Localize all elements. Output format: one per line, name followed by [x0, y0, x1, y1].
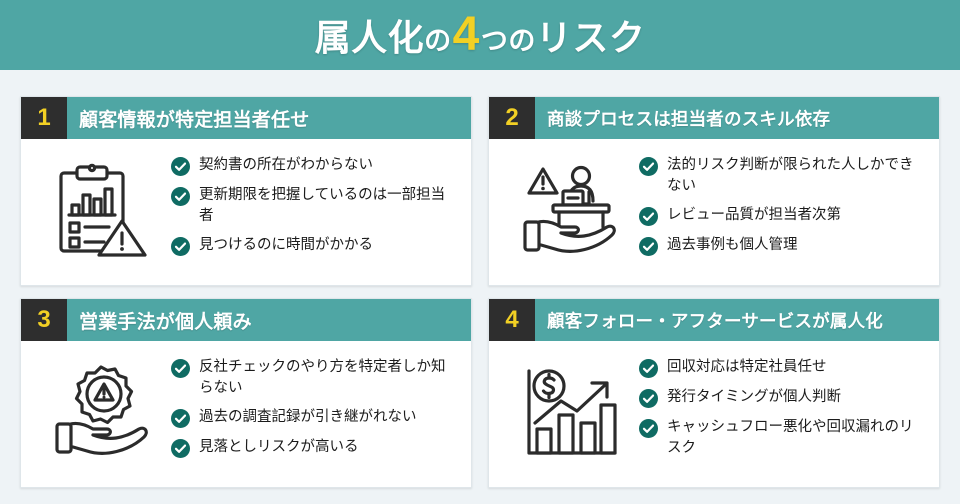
card-4-number-badge: 4 — [489, 299, 535, 341]
check-circle-icon — [171, 439, 190, 458]
title-part-no-2: の — [508, 19, 536, 58]
list-item: 契約書の所在がわからない — [171, 155, 457, 176]
title-part-counter: つ — [481, 19, 509, 58]
list-item-label: キャッシュフロー悪化や回収漏れのリスク — [667, 417, 925, 458]
risk-card-3: 3 営業手法が個人頼み — [20, 298, 472, 488]
check-circle-icon — [639, 207, 658, 226]
check-circle-icon — [171, 409, 190, 428]
risk-card-4: 4 顧客フォロー・アフターサービスが属人化 — [488, 298, 940, 488]
list-item-label: 反社チェックのやり方を特定者しか知らない — [199, 357, 457, 398]
list-item: レビュー品質が担当者次第 — [639, 205, 925, 226]
card-1-bullet-list: 契約書の所在がわからない 更新期限を把握しているのは一部担当者 見つけるのに時間… — [171, 151, 461, 256]
list-item: 反社チェックのやり方を特定者しか知らない — [171, 357, 457, 398]
hand-desk-person-warning-icon — [499, 151, 639, 271]
title-part-suffix: リスク — [536, 9, 646, 61]
card-1-header: 1 顧客情報が特定担当者任せ — [21, 97, 471, 139]
list-item: 過去事例も個人管理 — [639, 235, 925, 256]
list-item-label: 契約書の所在がわからない — [199, 155, 373, 176]
title-part-prefix: 属人化 — [315, 9, 425, 61]
card-3-bullet-list: 反社チェックのやり方を特定者しか知らない 過去の調査記録が引き継がれない 見落と… — [171, 353, 461, 458]
list-item: 法的リスク判断が限られた人しかできない — [639, 155, 925, 196]
check-circle-icon — [171, 237, 190, 256]
check-circle-icon — [639, 237, 658, 256]
card-2-number-badge: 2 — [489, 97, 535, 139]
card-4-title: 顧客フォロー・アフターサービスが属人化 — [535, 299, 939, 341]
check-circle-icon — [171, 359, 190, 378]
card-1-title: 顧客情報が特定担当者任せ — [67, 97, 471, 139]
growth-chart-dollar-icon — [499, 353, 639, 473]
list-item-label: レビュー品質が担当者次第 — [667, 205, 841, 226]
list-item-label: 過去事例も個人管理 — [667, 235, 798, 256]
card-2-body: 法的リスク判断が限られた人しかできない レビュー品質が担当者次第 過去事例も個人… — [489, 139, 939, 285]
list-item-label: 更新期限を把握しているのは一部担当者 — [199, 185, 457, 226]
card-3-title: 営業手法が個人頼み — [67, 299, 471, 341]
card-1-number-badge: 1 — [21, 97, 67, 139]
hand-gear-warning-icon — [31, 353, 171, 473]
card-3-number-badge: 3 — [21, 299, 67, 341]
page-banner: 属人化 の 4 つ の リスク — [0, 0, 960, 70]
list-item-label: 回収対応は特定社員任せ — [667, 357, 827, 378]
card-4-body: 回収対応は特定社員任せ 発行タイミングが個人判断 キャッシュフロー悪化や回収漏れ… — [489, 341, 939, 487]
list-item: 見つけるのに時間がかかる — [171, 235, 457, 256]
card-2-title: 商談プロセスは担当者のスキル依存 — [535, 97, 939, 139]
card-4-bullet-list: 回収対応は特定社員任せ 発行タイミングが個人判断 キャッシュフロー悪化や回収漏れ… — [639, 353, 929, 458]
list-item: 過去の調査記録が引き継がれない — [171, 407, 457, 428]
card-1-body: 契約書の所在がわからない 更新期限を把握しているのは一部担当者 見つけるのに時間… — [21, 139, 471, 285]
check-circle-icon — [639, 389, 658, 408]
risk-card-grid: 1 顧客情報が特定担当者任せ — [20, 96, 940, 488]
check-circle-icon — [639, 157, 658, 176]
list-item: 回収対応は特定社員任せ — [639, 357, 925, 378]
card-3-header: 3 営業手法が個人頼み — [21, 299, 471, 341]
list-item-label: 見落としリスクが高いる — [199, 437, 359, 458]
card-3-body: 反社チェックのやり方を特定者しか知らない 過去の調査記録が引き継がれない 見落と… — [21, 341, 471, 487]
card-2-bullet-list: 法的リスク判断が限られた人しかできない レビュー品質が担当者次第 過去事例も個人… — [639, 151, 929, 256]
check-circle-icon — [639, 419, 658, 438]
check-circle-icon — [171, 187, 190, 206]
clipboard-chart-warning-icon — [31, 151, 171, 271]
title-part-number: 4 — [452, 11, 481, 59]
card-4-header: 4 顧客フォロー・アフターサービスが属人化 — [489, 299, 939, 341]
risk-card-1: 1 顧客情報が特定担当者任せ — [20, 96, 472, 286]
list-item: 更新期限を把握しているのは一部担当者 — [171, 185, 457, 226]
list-item: 発行タイミングが個人判断 — [639, 387, 925, 408]
check-circle-icon — [639, 359, 658, 378]
card-2-header: 2 商談プロセスは担当者のスキル依存 — [489, 97, 939, 139]
list-item: 見落としリスクが高いる — [171, 437, 457, 458]
title-part-no-1: の — [424, 19, 452, 58]
list-item-label: 過去の調査記録が引き継がれない — [199, 407, 417, 428]
list-item: キャッシュフロー悪化や回収漏れのリスク — [639, 417, 925, 458]
infographic-page: 属人化 の 4 つ の リスク 1 顧客情報が特定担当者任せ — [0, 0, 960, 504]
list-item-label: 見つけるのに時間がかかる — [199, 235, 373, 256]
risk-card-2: 2 商談プロセスは担当者のスキル依存 — [488, 96, 940, 286]
check-circle-icon — [171, 157, 190, 176]
page-title: 属人化 の 4 つ の リスク — [315, 9, 646, 61]
list-item-label: 発行タイミングが個人判断 — [667, 387, 841, 408]
list-item-label: 法的リスク判断が限られた人しかできない — [667, 155, 925, 196]
